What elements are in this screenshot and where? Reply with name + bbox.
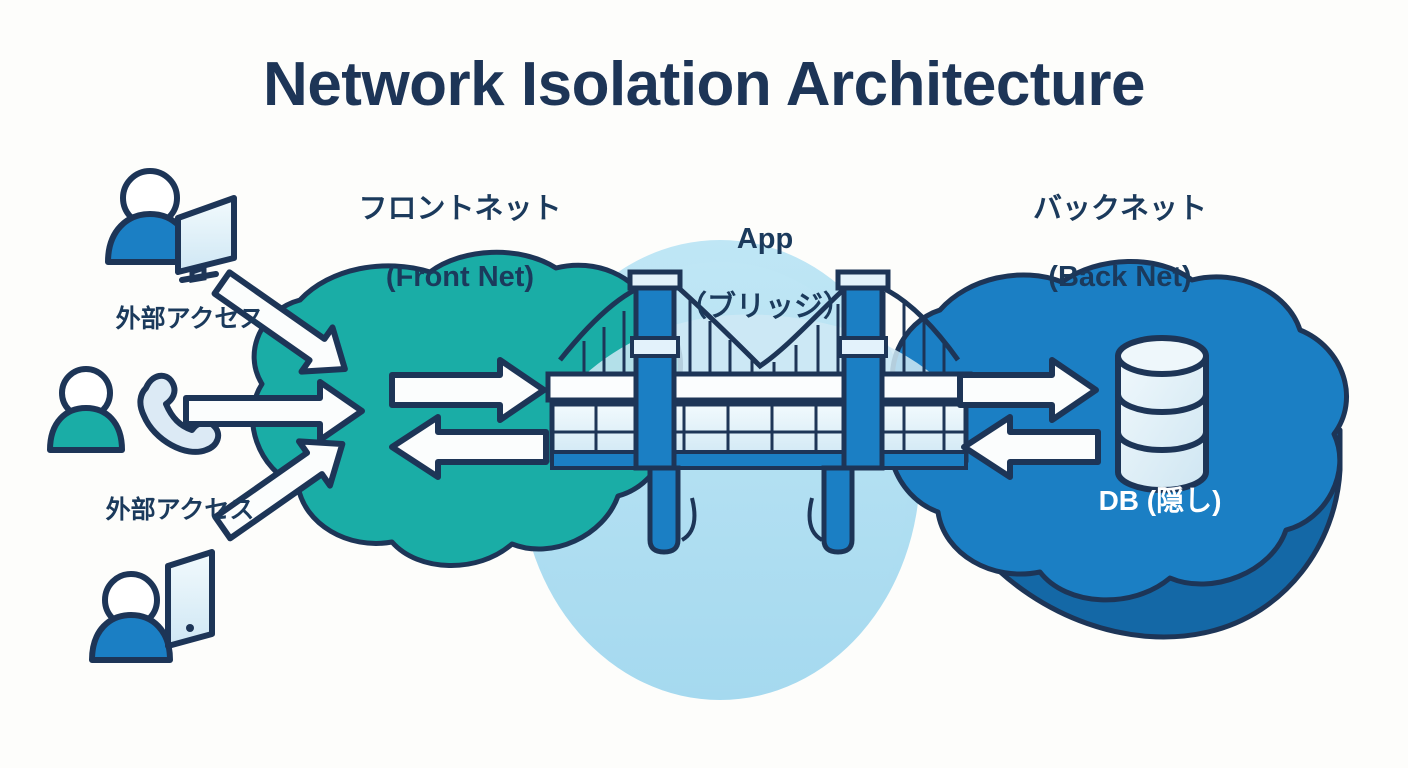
network-isolation-illustration — [0, 0, 1408, 768]
diagram-canvas: Network Isolation Architecture フロントネット (… — [0, 0, 1408, 768]
database-cylinder-icon — [1118, 338, 1206, 490]
bridge-tower-right — [838, 272, 888, 468]
bridge-tower-left — [630, 272, 680, 468]
user-tablet-icon — [92, 552, 212, 660]
user-desktop-icon — [108, 171, 234, 280]
